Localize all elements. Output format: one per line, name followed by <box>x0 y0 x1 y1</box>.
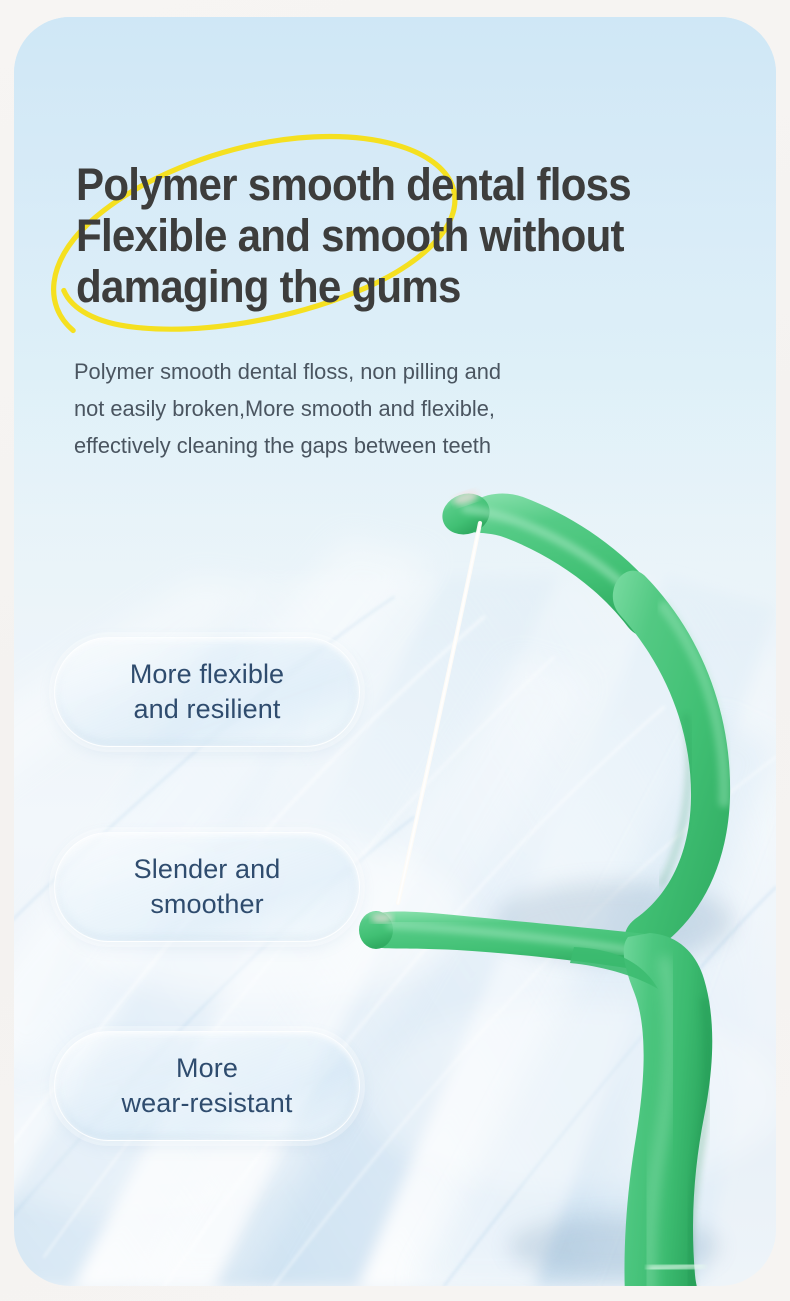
feature-badge-more-flexible[interactable]: More flexible and resilient <box>54 637 360 747</box>
product-feature-card: Polymer smooth dental floss Flexible and… <box>14 17 776 1286</box>
image-canvas: Polymer smooth dental floss Flexible and… <box>0 0 790 1301</box>
page-title: Polymer smooth dental floss Flexible and… <box>76 159 693 312</box>
feature-badge-wear-resistant[interactable]: More wear-resistant <box>54 1031 360 1141</box>
feature-badge-label: More flexible and resilient <box>130 657 284 727</box>
feature-badge-label: More wear-resistant <box>122 1051 293 1121</box>
feature-badge-slender-smoother[interactable]: Slender and smoother <box>54 832 360 942</box>
feature-badge-label: Slender and smoother <box>134 852 281 922</box>
description-text: Polymer smooth dental floss, non pilling… <box>74 353 734 464</box>
